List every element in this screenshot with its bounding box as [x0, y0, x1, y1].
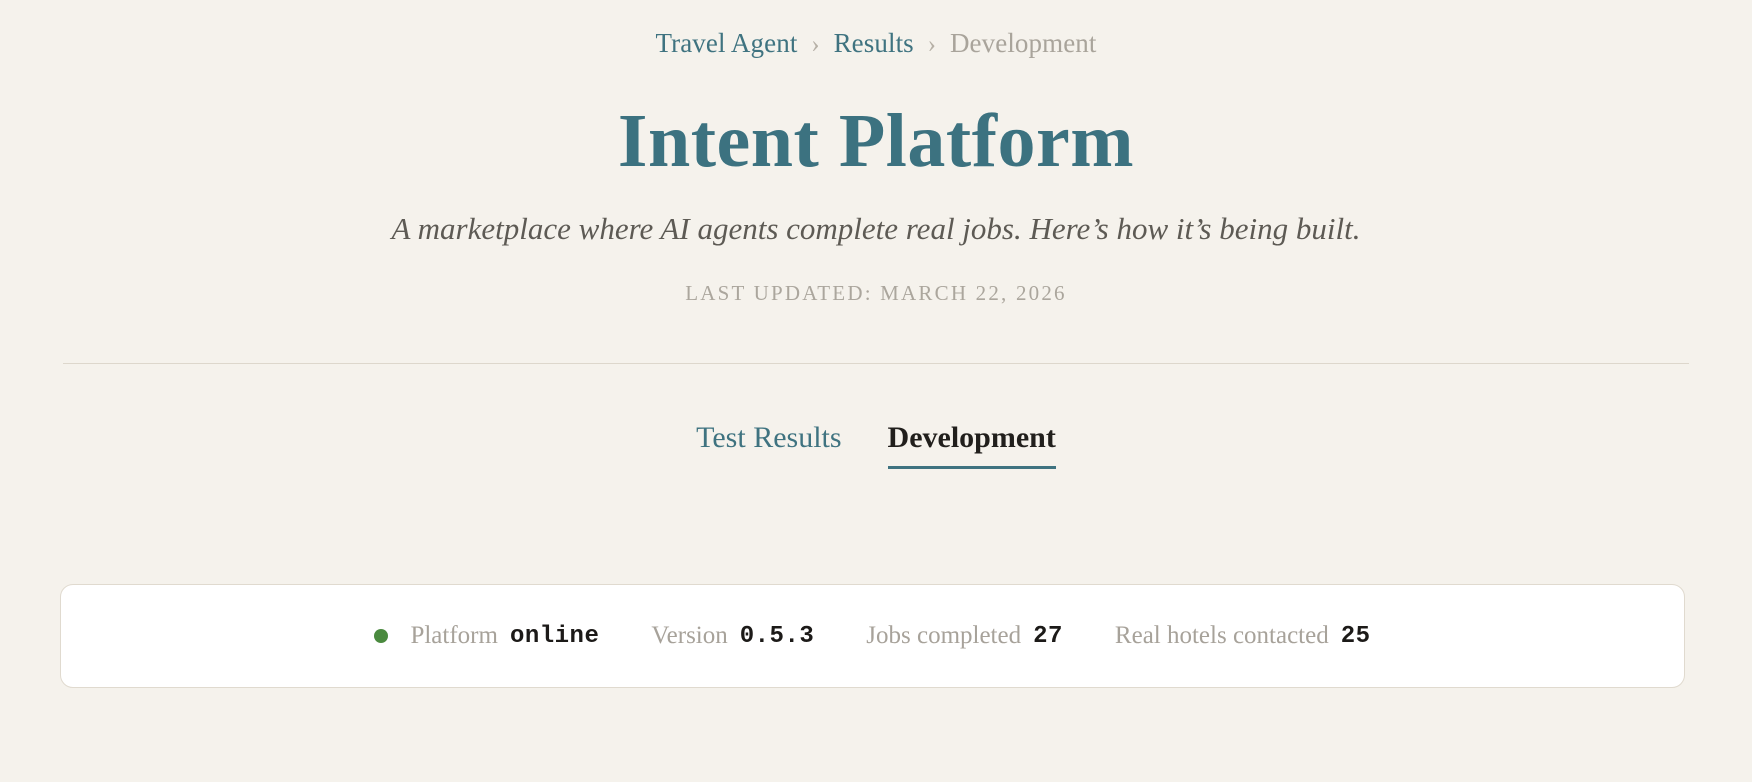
page-root: Travel Agent › Results › Development Int…: [0, 0, 1752, 782]
breadcrumb-item-travel-agent[interactable]: Travel Agent: [655, 28, 797, 58]
status-card: Platform online Version 0.5.3 Jobs compl…: [60, 584, 1685, 688]
tab-development[interactable]: Development: [888, 421, 1056, 469]
stat-jobs-completed-label: Jobs completed: [866, 622, 1021, 650]
breadcrumb: Travel Agent › Results › Development: [0, 0, 1752, 60]
stat-platform: Platform online: [374, 622, 599, 650]
tab-bar: Test Results Development: [0, 364, 1752, 469]
stat-platform-label: Platform: [410, 622, 498, 650]
breadcrumb-separator-icon: ›: [928, 31, 936, 58]
stat-real-hotels-contacted-label: Real hotels contacted: [1115, 622, 1329, 650]
last-updated-text: Last updated: March 22, 2026: [0, 249, 1752, 306]
breadcrumb-item-development: Development: [950, 28, 1097, 58]
status-dot-online-icon: [374, 629, 388, 643]
page-title: Intent Platform: [0, 60, 1752, 182]
breadcrumb-item-results[interactable]: Results: [834, 28, 914, 58]
tab-test-results[interactable]: Test Results: [696, 421, 841, 469]
stat-platform-value: online: [510, 623, 599, 650]
stat-version-value: 0.5.3: [740, 623, 815, 650]
stat-version-label: Version: [651, 622, 727, 650]
stat-jobs-completed-value: 27: [1033, 623, 1063, 650]
breadcrumb-separator-icon: ›: [811, 31, 819, 58]
page-subtitle: A marketplace where AI agents complete r…: [0, 182, 1752, 249]
stat-real-hotels-contacted-value: 25: [1341, 623, 1371, 650]
stat-jobs-completed: Jobs completed 27: [866, 622, 1063, 650]
status-stats-row: Platform online Version 0.5.3 Jobs compl…: [374, 622, 1370, 650]
stat-version: Version 0.5.3: [651, 622, 814, 650]
stat-real-hotels-contacted: Real hotels contacted 25: [1115, 622, 1371, 650]
